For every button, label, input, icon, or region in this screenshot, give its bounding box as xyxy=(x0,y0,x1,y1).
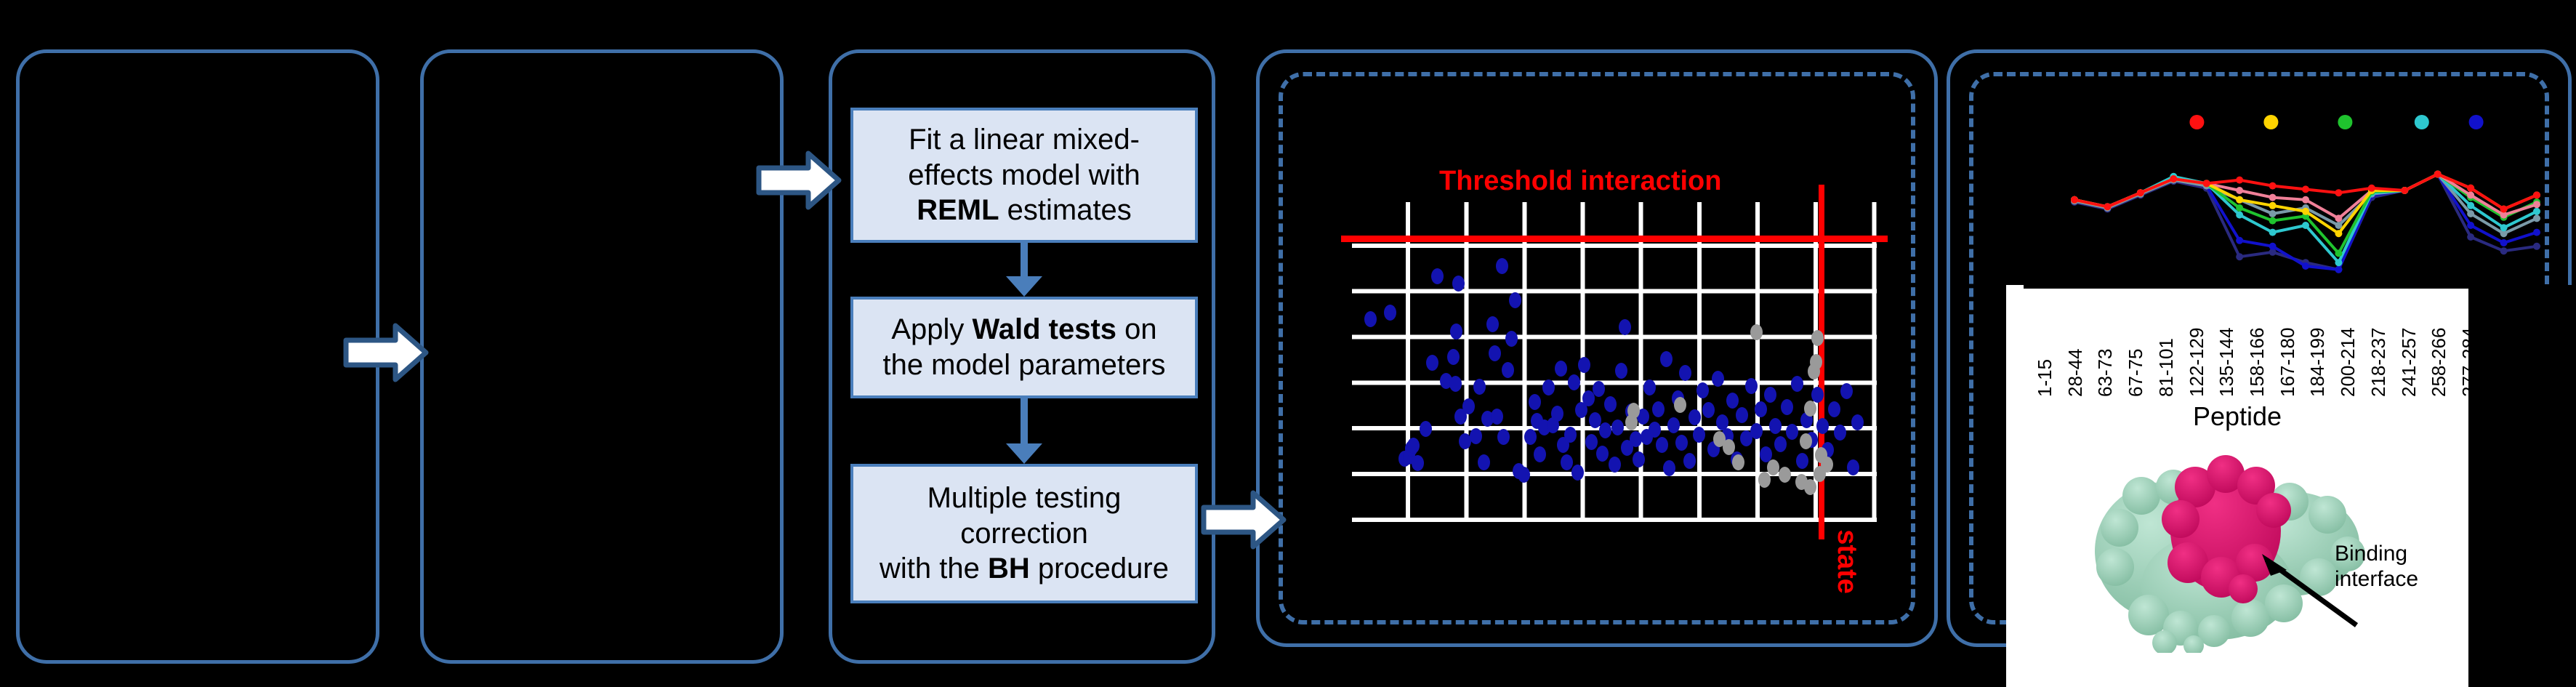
peptide-tick-label: 67-75 xyxy=(2125,349,2147,398)
scatter-point xyxy=(1755,401,1767,417)
scatter-point xyxy=(1779,467,1791,483)
peptide-series-marker xyxy=(2434,171,2442,178)
peptide-tick-label: 81-101 xyxy=(2155,338,2178,397)
peptide-series-marker xyxy=(2170,175,2177,182)
scatter-point xyxy=(1596,446,1609,462)
scatter-point xyxy=(1745,378,1758,394)
binding-line1: Binding xyxy=(2335,541,2418,566)
scatter-point xyxy=(1652,401,1665,417)
peptide-series-marker xyxy=(2533,243,2540,250)
scatter-point xyxy=(1781,399,1793,415)
peptide-series-marker xyxy=(2500,247,2508,254)
scatter-point xyxy=(1449,376,1462,392)
peptide-series-marker xyxy=(2236,187,2243,194)
peptide-series-marker xyxy=(2269,182,2277,190)
scatter-point xyxy=(1609,457,1621,473)
peptide-legend-dot xyxy=(2415,115,2429,129)
peptide-series-marker xyxy=(2302,185,2309,193)
scatter-point xyxy=(1847,459,1859,475)
step-multiple-testing-box: Multiple testing correction with the BH … xyxy=(850,464,1198,603)
step3-line3: with the BH procedure xyxy=(880,551,1169,587)
scatter-point xyxy=(1452,276,1465,292)
peptide-series-marker xyxy=(2269,243,2277,250)
peptide-right-mask xyxy=(2468,285,2576,687)
step2-line1: Apply Wald tests on xyxy=(891,312,1156,347)
step2-wald: Wald tests xyxy=(973,313,1117,345)
scatter-point xyxy=(1589,412,1601,428)
peptide-tick-label: 135-144 xyxy=(2215,328,2238,397)
peptide-series-marker xyxy=(2269,217,2277,225)
peptide-series-marker xyxy=(2269,194,2277,201)
arrowhead-down-icon-1 xyxy=(1006,276,1042,297)
peptide-legend-dot xyxy=(2469,115,2484,129)
peptide-series-marker xyxy=(2071,196,2078,204)
binding-interface-annotation: Binding interface xyxy=(2335,541,2418,592)
scatter-point xyxy=(1551,406,1563,422)
peptide-y-tick-label: 0.0 xyxy=(2006,285,2007,292)
scatter-point xyxy=(1811,330,1824,346)
scatter-point xyxy=(1696,382,1709,398)
scatter-point xyxy=(1712,371,1724,387)
scatter-point xyxy=(1774,436,1787,452)
scatter-point xyxy=(1502,362,1514,378)
peptide-series-marker xyxy=(2335,266,2342,273)
peptide-series-marker xyxy=(2467,222,2474,229)
scatter-point xyxy=(1509,292,1521,308)
peptide-series-marker xyxy=(2467,233,2474,241)
arrowhead-down-icon-2 xyxy=(1006,443,1042,464)
scatter-point xyxy=(1821,457,1833,473)
peptide-series-marker xyxy=(2533,214,2540,222)
peptide-series-marker xyxy=(2104,203,2111,210)
peptide-legend-dot xyxy=(2263,115,2278,129)
scatter-point xyxy=(1473,379,1486,395)
input-panel xyxy=(16,49,379,664)
peptide-series-marker xyxy=(2401,187,2408,194)
scatter-point xyxy=(1804,401,1816,417)
scatter-point xyxy=(1667,417,1680,433)
scatter-point xyxy=(1426,355,1438,371)
scatter-point xyxy=(1750,324,1763,340)
step2-post: on xyxy=(1116,313,1157,345)
step-wald-tests-box: Apply Wald tests on the model parameters xyxy=(850,297,1198,398)
peptide-tick-labels: 1-1528-4463-7367-7581-101122-129135-1441… xyxy=(2024,289,2468,400)
peptide-series-marker xyxy=(2236,204,2243,212)
scatter-point xyxy=(1459,433,1471,449)
threshold-interaction-line xyxy=(1341,236,1888,242)
scatter-point xyxy=(1450,324,1462,340)
scatter-point xyxy=(1693,427,1705,443)
peptide-tick-label: 200-214 xyxy=(2337,328,2359,397)
scatter-point xyxy=(1407,438,1420,454)
peptide-tick-label: 277-284 xyxy=(2458,328,2468,397)
peptide-line-chart xyxy=(2058,109,2553,276)
scatter-point xyxy=(1796,453,1808,469)
protein-structure-image xyxy=(2072,435,2377,653)
peptide-series-marker xyxy=(2302,196,2309,204)
scatter-point xyxy=(1462,398,1475,414)
peptide-legend-dot xyxy=(2189,115,2204,129)
peptide-series-marker xyxy=(2335,249,2342,257)
flow-arrow-2-icon xyxy=(756,149,842,212)
scatter-point xyxy=(1689,409,1701,425)
scatter-point xyxy=(1660,351,1673,367)
scatter-point xyxy=(1750,423,1763,439)
peptide-tick-label: 158-166 xyxy=(2246,328,2269,397)
peptide-series-marker xyxy=(2500,224,2508,231)
step1-line2: effects model with xyxy=(908,158,1140,193)
scatter-point xyxy=(1564,427,1577,443)
scatter-point xyxy=(1599,422,1611,438)
peptide-legend-dot xyxy=(2338,115,2352,129)
csv-panel: X CSV xyxy=(420,49,784,664)
scatter-point xyxy=(1615,363,1627,379)
peptide-series-marker xyxy=(2302,222,2309,229)
scatter-point xyxy=(1786,424,1798,440)
peptide-series-marker xyxy=(2533,208,2540,215)
peptide-tick-label: 218-237 xyxy=(2367,328,2390,397)
peptide-x-axis-line xyxy=(2024,285,2468,289)
scatter-point xyxy=(1491,409,1503,425)
peptide-tick-label: 258-266 xyxy=(2428,328,2450,397)
peptide-series-marker xyxy=(2137,189,2144,196)
scatter-point xyxy=(1505,331,1518,347)
connector-step2-step3 xyxy=(1021,398,1028,446)
step-fit-model-box: Fit a linear mixed- effects model with R… xyxy=(850,108,1198,243)
step1-line3: REML estimates xyxy=(917,193,1132,228)
step3-pre: with the xyxy=(880,553,988,584)
scatter-point xyxy=(1470,428,1482,444)
peptide-series-marker xyxy=(2269,210,2277,217)
peptide-series-marker xyxy=(2467,210,2474,217)
peptide-series-marker xyxy=(2533,201,2540,208)
flow-arrow-1-icon xyxy=(343,321,429,384)
peptide-series-marker xyxy=(2335,259,2342,266)
peptide-series-marker xyxy=(2467,185,2474,192)
peptide-series-marker xyxy=(2203,180,2210,187)
scatter-point xyxy=(1497,429,1510,445)
scatter-point xyxy=(1851,414,1864,430)
scatter-point xyxy=(1804,479,1816,495)
scatter-point xyxy=(1649,422,1661,438)
step3-line2: correction xyxy=(960,516,1088,552)
peptide-series-marker xyxy=(2467,202,2474,209)
peptide-series-marker xyxy=(2335,214,2342,222)
scatter-plot xyxy=(1352,202,1877,522)
connector-step1-step2 xyxy=(1021,243,1028,279)
scatter-point xyxy=(1736,407,1748,423)
scatter-point xyxy=(1420,421,1432,437)
step2-pre: Apply xyxy=(891,313,972,345)
scatter-point xyxy=(1800,433,1812,449)
step2-line2: the model parameters xyxy=(882,347,1165,383)
step1-line1: Fit a linear mixed- xyxy=(909,122,1140,158)
peptide-tick-label: 1-15 xyxy=(2034,359,2056,397)
peptide-series-marker xyxy=(2236,212,2243,219)
peptide-series-marker xyxy=(2335,189,2342,196)
peptide-tick-label: 122-129 xyxy=(2186,328,2208,397)
binding-line2: interface xyxy=(2335,566,2418,592)
peptide-x-axis-label: Peptide xyxy=(2006,401,2468,432)
scatter-point xyxy=(1828,401,1840,417)
scatter-point xyxy=(1542,379,1555,395)
scatter-point xyxy=(1769,418,1782,434)
step1-reml: REML xyxy=(917,194,999,226)
scatter-point xyxy=(1633,451,1645,467)
peptide-series-marker xyxy=(2500,206,2508,213)
scatter-point xyxy=(1364,311,1377,327)
scatter-point xyxy=(1663,460,1675,476)
peptide-series-marker xyxy=(2269,202,2277,209)
step1-line3-rest: estimates xyxy=(999,194,1132,226)
scatter-point xyxy=(1478,454,1490,470)
scatter-point xyxy=(1726,393,1739,409)
scatter-point xyxy=(1702,402,1715,418)
peptide-tick-label: 241-257 xyxy=(2398,328,2420,397)
peptide-tick-label: 167-180 xyxy=(2277,328,2299,397)
scatter-point xyxy=(1447,349,1460,365)
scatter-point xyxy=(1683,453,1696,469)
peptide-series-marker xyxy=(2236,177,2243,184)
peptide-series-marker xyxy=(2533,191,2540,198)
peptide-series-marker xyxy=(2236,237,2243,244)
scatter-title: Threshold interaction xyxy=(1439,166,1721,197)
peptide-series-marker xyxy=(2302,262,2309,270)
scatter-point xyxy=(1611,419,1624,435)
flow-arrow-3-icon xyxy=(1201,489,1287,551)
peptide-figure-white-area: 0.0 1-1528-4463-7367-7581-101122-129135-… xyxy=(2006,285,2468,687)
scatter-point xyxy=(1811,387,1824,403)
scatter-point xyxy=(1593,381,1605,397)
scatter-point xyxy=(1578,357,1590,373)
peptide-tick-label: 184-199 xyxy=(2306,328,2329,397)
scatter-point xyxy=(1674,397,1686,413)
scatter-point xyxy=(1561,454,1573,470)
peptide-series-marker xyxy=(2236,253,2243,260)
peptide-series-marker xyxy=(2467,191,2474,198)
peptide-series-marker xyxy=(2533,229,2540,236)
scatter-point xyxy=(1431,268,1444,284)
peptide-series-marker xyxy=(2302,208,2309,215)
peptide-series-marker xyxy=(2335,230,2342,237)
step3-bh: BH xyxy=(988,553,1030,584)
scatter-point xyxy=(1816,418,1829,434)
step3-line1: Multiple testing xyxy=(927,481,1122,516)
scatter-point xyxy=(1627,403,1640,419)
scatter-point xyxy=(1619,319,1631,335)
peptide-tick-label: 28-44 xyxy=(2064,349,2087,398)
peptide-tick-label: 63-73 xyxy=(2094,349,2117,398)
peptide-series-marker xyxy=(2368,185,2375,192)
scatter-point xyxy=(1518,467,1530,483)
peptide-series-marker xyxy=(2500,239,2508,246)
scatter-point xyxy=(1496,258,1508,274)
step3-post: procedure xyxy=(1030,553,1169,584)
scatter-point xyxy=(1384,305,1396,321)
peptide-series-marker xyxy=(2269,229,2277,236)
peptide-series-marker xyxy=(2236,196,2243,204)
